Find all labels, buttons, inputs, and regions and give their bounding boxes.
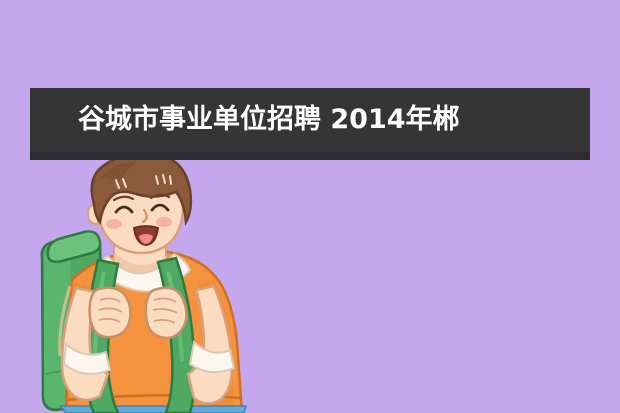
title-banner-surface: 谷城市事业单位招聘 2014年郴 [30,88,590,152]
jeans-group [60,406,246,413]
page-canvas: 谷城市事业单位招聘 2014年郴 [0,0,620,413]
smiling-student-with-backpack-icon [0,160,310,413]
page-title: 谷城市事业单位招聘 2014年郴 [78,88,460,152]
banner-bottom-strip [30,152,590,160]
head-group [88,160,191,253]
student-illustration [0,160,310,413]
left-cheek [106,219,122,229]
right-cheek [156,217,172,227]
title-banner: 谷城市事业单位招聘 2014年郴 [30,88,590,160]
left-hand-group [90,288,131,337]
right-hand-group [146,288,187,338]
